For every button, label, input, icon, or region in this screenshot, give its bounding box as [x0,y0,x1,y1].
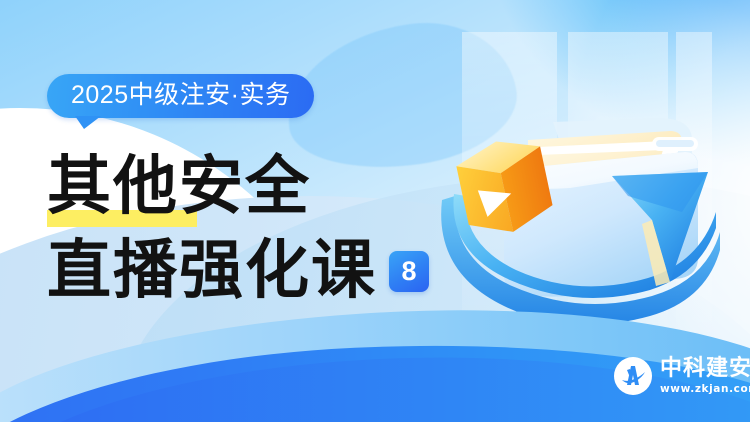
brand-logo-text: 中科建安 www.zkjan.com [660,358,750,395]
brand-url: www.zkjan.com [660,384,750,395]
brand-logo: 中科建安 www.zkjan.com [614,357,750,395]
title-block: 其他安全 直播强化课 8 [47,152,429,306]
title-line-2-text: 直播强化课 [47,236,377,306]
badge-tail-pointer [75,116,101,129]
course-category-badge: 2025中级注安·实务 [47,74,314,118]
title-line-1-text: 其他安全 [47,149,311,224]
course-banner: 2025中级注安·实务 其他安全 直播强化课 8 中科建安 www.zkjan.… [0,0,750,422]
folder-illustration [420,0,750,350]
title-line-1: 其他安全 [47,152,429,222]
episode-number-badge: 8 [389,251,429,292]
brand-name: 中科建安 [660,358,750,380]
course-category-badge-label: 2025中级注安·实务 [47,74,314,118]
zkjan-monogram-icon [614,357,652,395]
title-line-2: 直播强化课 8 [47,236,429,306]
